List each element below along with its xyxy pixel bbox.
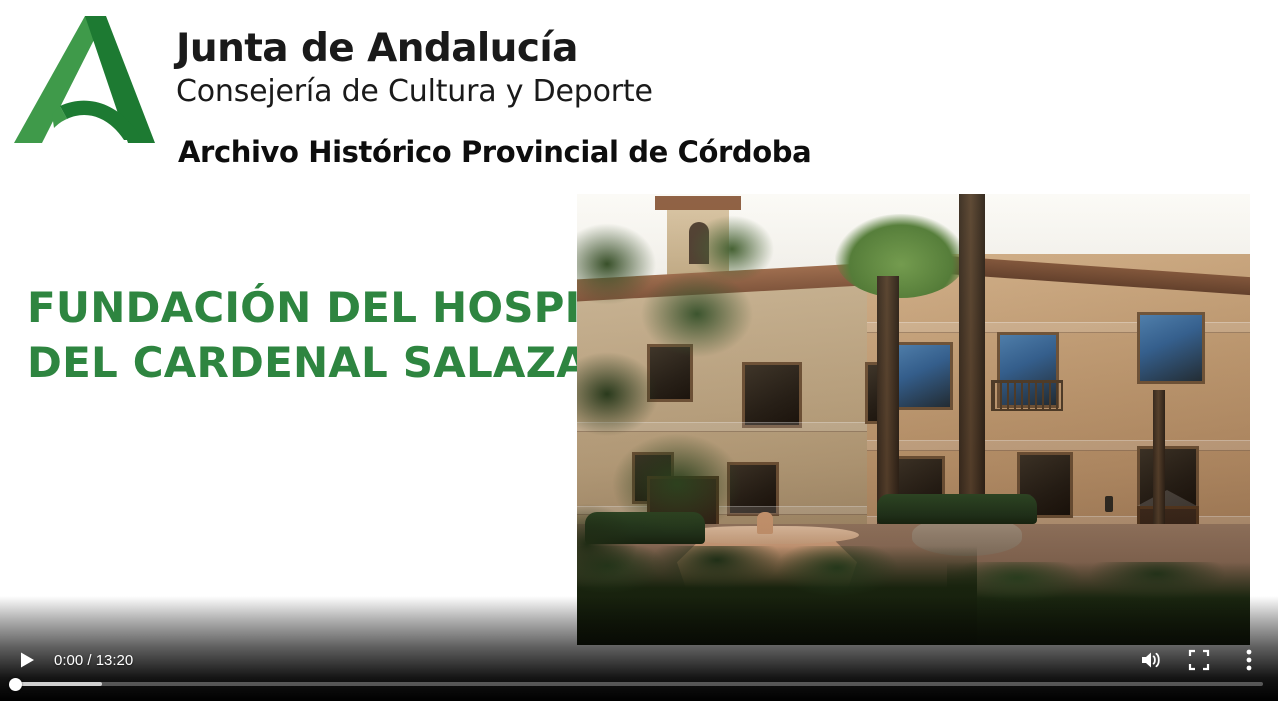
page-title-line2: DEL CARDENAL SALAZAR <box>27 335 557 390</box>
org-name-line1: Junta de Andalucía <box>176 26 816 72</box>
junta-de-andalucia-a-logo-icon <box>12 14 157 145</box>
progress-scrubber-handle[interactable] <box>9 678 22 691</box>
volume-high-icon <box>1140 650 1162 670</box>
window <box>1137 312 1205 384</box>
balcony-railing <box>991 380 1063 411</box>
palm-trunk <box>959 194 985 524</box>
video-still-image <box>577 194 1250 645</box>
foreground-tree <box>577 194 797 614</box>
courtyard-scene <box>577 194 1250 645</box>
window <box>895 342 953 410</box>
page-title-line1: FUNDACIÓN DEL HOSPITAL <box>27 280 557 335</box>
institution-name: Archivo Histórico Provincial de Córdoba <box>178 134 811 170</box>
fullscreen-button[interactable] <box>1180 641 1218 679</box>
branding-header: Junta de Andalucía Consejería de Cultura… <box>0 0 830 180</box>
hedge <box>947 562 1250 645</box>
hedge <box>877 494 1037 524</box>
play-button[interactable] <box>8 641 46 679</box>
page-title: FUNDACIÓN DEL HOSPITAL DEL CARDENAL SALA… <box>27 280 557 390</box>
branding-text: Junta de Andalucía Consejería de Cultura… <box>176 26 816 112</box>
more-options-button[interactable] <box>1230 641 1268 679</box>
video-player-stage[interactable]: Junta de Andalucía Consejería de Cultura… <box>0 0 1278 701</box>
progress-buffered <box>15 682 102 686</box>
time-display: 0:00 / 13:20 <box>54 651 133 670</box>
org-name-line2: Consejería de Cultura y Deporte <box>176 72 816 112</box>
progress-track[interactable] <box>15 682 1263 686</box>
wall-lamp <box>1105 496 1113 512</box>
volume-button[interactable] <box>1132 641 1170 679</box>
video-controls-bar[interactable]: 0:00 / 13:20 <box>0 640 1278 701</box>
palm-trunk <box>877 276 899 526</box>
controls-button-row: 0:00 / 13:20 <box>0 640 1278 680</box>
window-pediment <box>1137 490 1197 506</box>
play-icon <box>18 651 36 669</box>
more-vertical-icon <box>1246 649 1252 671</box>
palm-fronds <box>835 214 967 298</box>
progress-bar[interactable] <box>15 676 1263 692</box>
fullscreen-icon <box>1189 650 1209 670</box>
